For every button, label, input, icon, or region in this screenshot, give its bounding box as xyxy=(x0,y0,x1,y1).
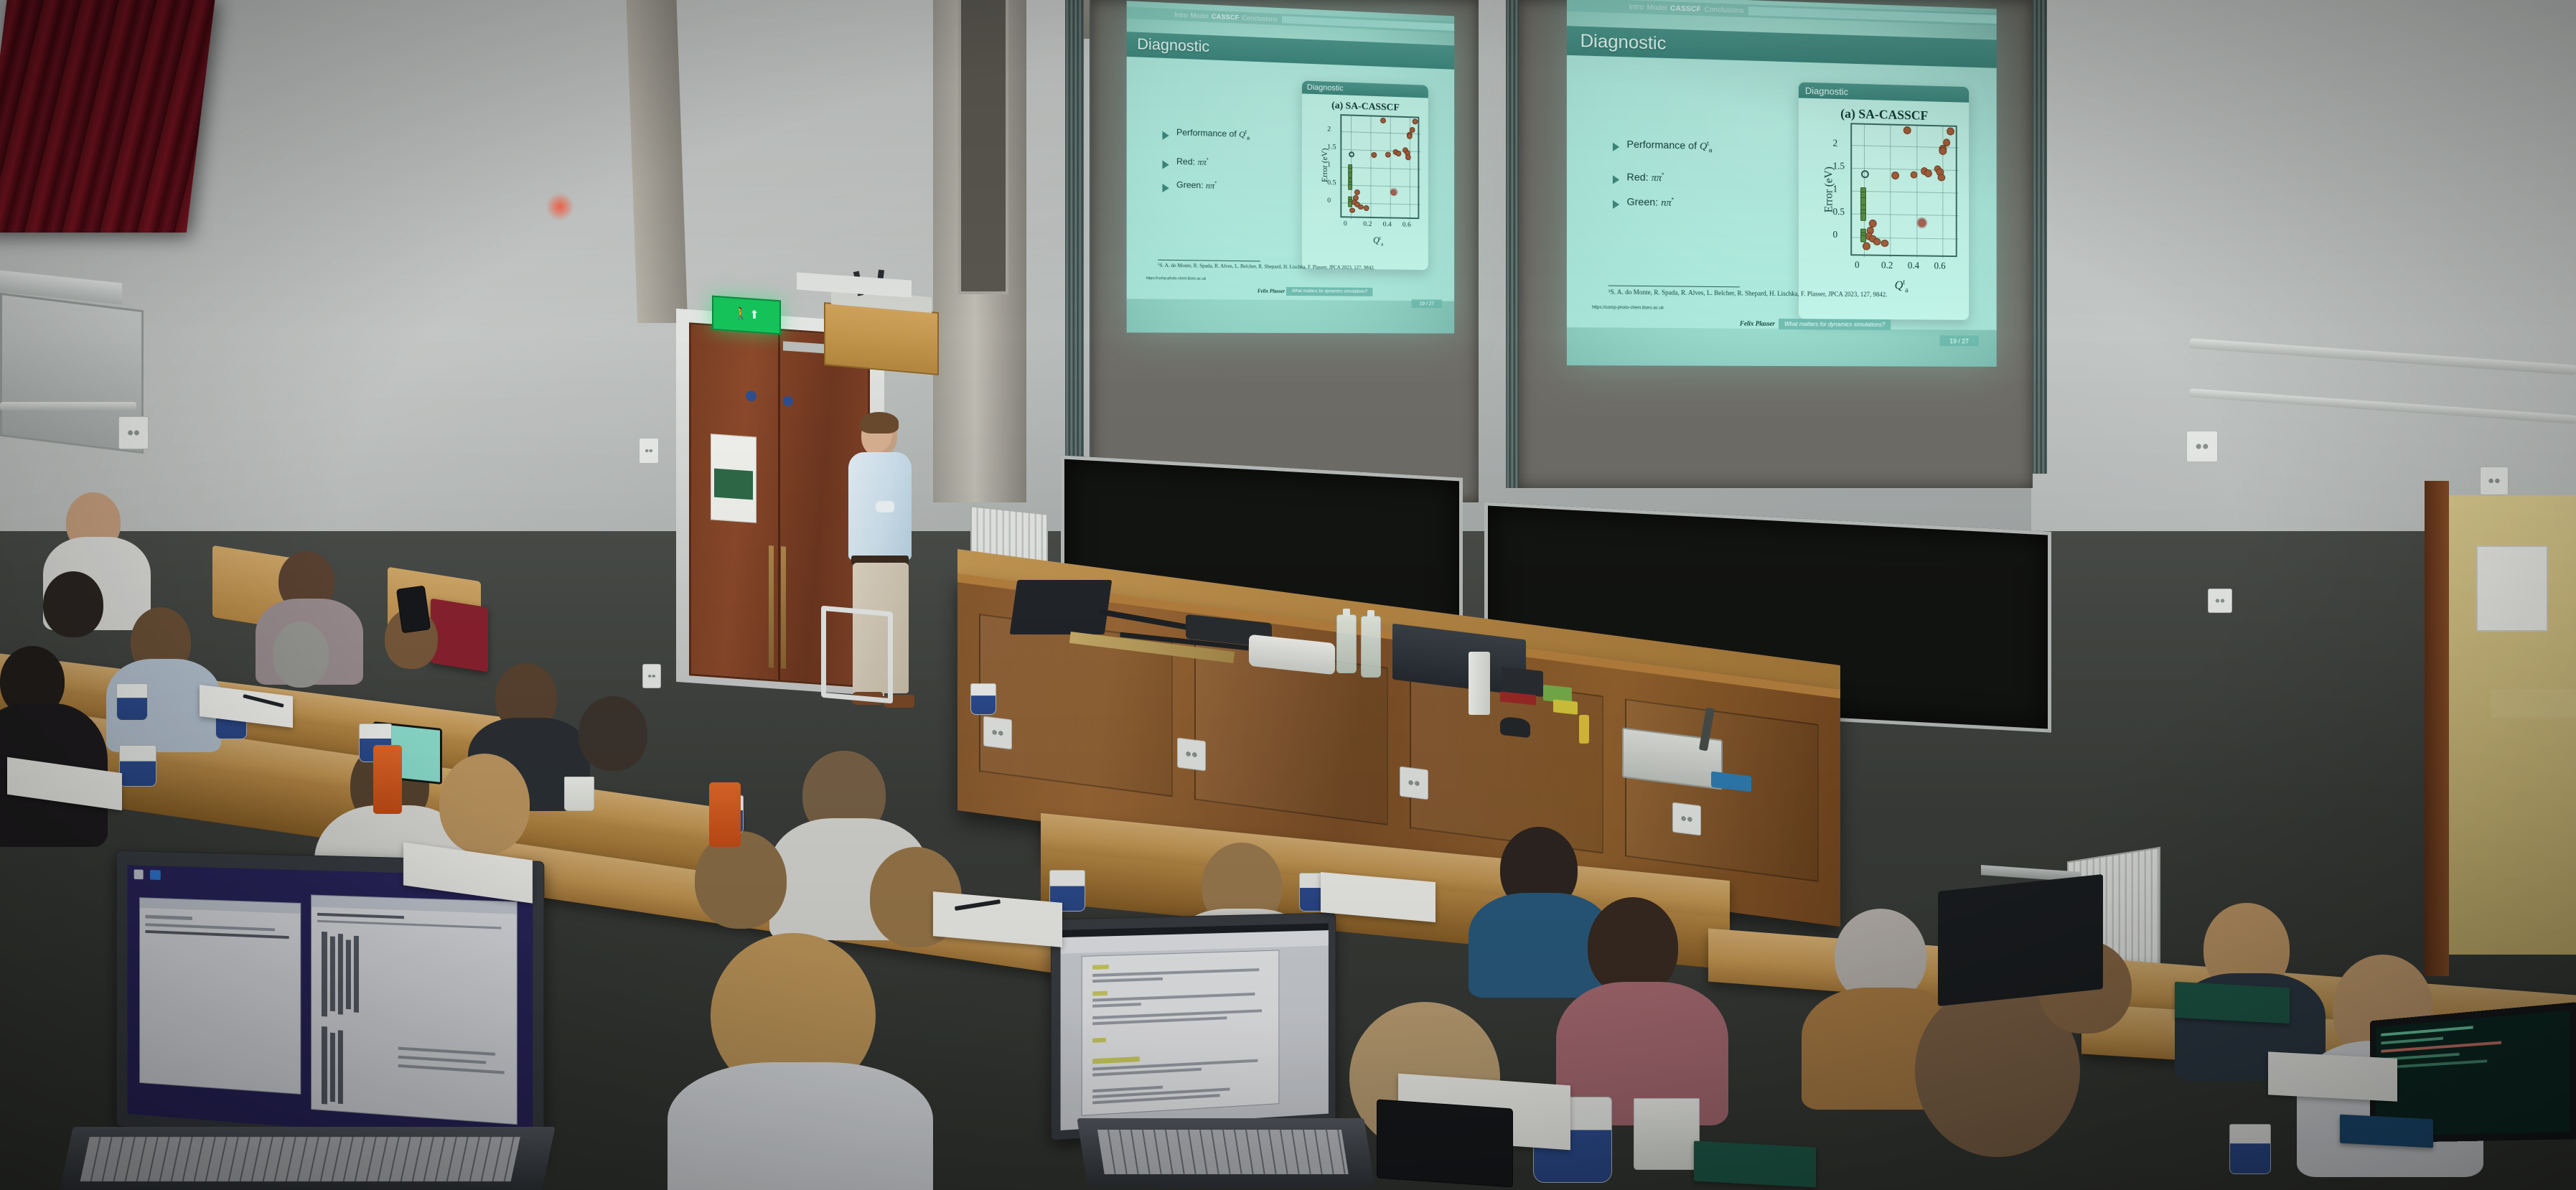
chart-xtick-label: 0.2 xyxy=(1881,260,1893,271)
slide-bullet-red: Red: ππ* xyxy=(1162,156,1300,172)
door-handle-bar[interactable] xyxy=(769,545,774,667)
chart-xtick-label: 0.4 xyxy=(1383,221,1392,229)
audience-body-15 xyxy=(668,1062,933,1190)
door-notice-poster xyxy=(711,434,757,523)
nav-section-intro[interactable]: Intro xyxy=(1629,3,1644,11)
bullet-1-sup-r: * xyxy=(1662,172,1664,179)
corridor-shelf xyxy=(2491,689,2576,718)
presenter-hair xyxy=(860,412,899,434)
chart-right: 00.20.40.621.510.50QtaError (eV) xyxy=(1799,113,1969,317)
chart-data-point xyxy=(1947,128,1954,136)
chart-data-point xyxy=(1860,197,1866,205)
presenter-stool[interactable] xyxy=(821,606,893,704)
chart-data-point xyxy=(1372,152,1377,158)
slide-nav-sections: Intro Model CASSCF Conclusions xyxy=(1127,9,1278,23)
wall-cabinet xyxy=(824,302,939,375)
paper-cup-1[interactable] xyxy=(1634,1098,1700,1170)
doorway-frame xyxy=(2425,481,2449,976)
bench-socket-4[interactable] xyxy=(1672,802,1701,836)
wall-switch-mid[interactable] xyxy=(639,438,659,464)
nav-section-model[interactable]: Model xyxy=(1191,11,1209,19)
chart-data-point xyxy=(1354,189,1360,195)
door-push-plate-left[interactable] xyxy=(746,390,757,402)
bullet-triangle-icon xyxy=(1613,143,1619,151)
phone-raised[interactable] xyxy=(396,586,431,634)
blue-folder[interactable] xyxy=(2340,1115,2433,1148)
slide-talk-title: What matters for dynamics simulations? xyxy=(1286,287,1373,296)
bullet-0-math: Q xyxy=(1239,129,1245,139)
bench-socket-3[interactable] xyxy=(1400,767,1428,800)
chart-ytick-label: 0 xyxy=(1327,197,1331,205)
chart-data-point xyxy=(1413,118,1418,124)
red-curtain xyxy=(0,0,215,233)
word-document[interactable] xyxy=(1082,950,1280,1116)
bullet-triangle-icon xyxy=(1613,200,1619,209)
audience-head-5 xyxy=(273,622,329,688)
bullet-1-text-r: Red: xyxy=(1626,171,1651,183)
chart-ytick-label: 0 xyxy=(1833,229,1838,240)
phone-on-desk[interactable] xyxy=(1377,1099,1513,1187)
chart-data-point xyxy=(1396,151,1402,156)
bench-socket-1[interactable] xyxy=(983,716,1012,750)
chart-data-point xyxy=(1380,118,1386,123)
chart-data-point xyxy=(1925,169,1932,177)
chart-data-point xyxy=(1348,172,1352,178)
orange-water-bottle-2[interactable] xyxy=(709,782,741,847)
chart-ytick-label: 2 xyxy=(1327,126,1331,133)
audience-monitor-dark xyxy=(1938,874,2103,1006)
bench-mug[interactable] xyxy=(970,683,996,715)
screen-rail-left-a xyxy=(1065,0,1084,495)
desk-mug-1[interactable] xyxy=(116,683,148,721)
paper-cup-2[interactable] xyxy=(564,777,594,811)
bullet-1-text: Red: xyxy=(1176,156,1197,167)
nav-section-conclusions[interactable]: Conclusions xyxy=(1705,6,1744,15)
board-sponge-yellow[interactable] xyxy=(1553,699,1578,715)
door-center-split xyxy=(778,331,780,680)
foreground-laptop-right[interactable] xyxy=(1054,916,1362,1190)
chart-data-point xyxy=(1348,202,1352,207)
bullet-2-text-r: Green: xyxy=(1626,196,1661,208)
audience-head-11 xyxy=(439,754,530,854)
chart-plot-area xyxy=(1850,123,1957,257)
bullet-1-math-r: ππ xyxy=(1652,173,1662,184)
chart-data-point xyxy=(1892,172,1899,179)
chart-data-point xyxy=(1939,147,1947,155)
chart-ytick-label: 2 xyxy=(1833,137,1838,149)
chart-xtick-label: 0.4 xyxy=(1908,260,1919,271)
figure-card-right: Diagnostic (a) SA-CASSCF 00.20.40.621.51… xyxy=(1799,83,1969,320)
nav-section-casscf[interactable]: CASSCF xyxy=(1212,13,1240,22)
chart-data-point xyxy=(1860,213,1866,221)
chart-data-point xyxy=(1405,154,1411,160)
bullet-2-math: nπ xyxy=(1206,180,1214,190)
green-book-1[interactable] xyxy=(1694,1141,1816,1188)
bullet-0-sub: a xyxy=(1247,134,1250,141)
laptop-lid-left xyxy=(116,851,545,1161)
audience-head-13 xyxy=(695,831,787,929)
chart-data-point xyxy=(1938,174,1945,182)
chart-data-point xyxy=(1881,239,1888,247)
chart-data-point xyxy=(1860,235,1866,243)
bullet-2-sup-r: * xyxy=(1672,196,1674,203)
chart-data-point xyxy=(1863,243,1870,250)
bullet-triangle-icon xyxy=(1162,184,1168,192)
slide-url: https://comp-photo-chem.lboro.ac.uk xyxy=(1146,276,1206,281)
nav-section-model[interactable]: Model xyxy=(1647,4,1667,12)
chart-data-point xyxy=(1869,220,1876,228)
laptop-desktop-icon-1[interactable] xyxy=(134,869,144,879)
nav-section-casscf[interactable]: CASSCF xyxy=(1670,4,1701,14)
wall-switch-mid-2[interactable] xyxy=(642,664,661,688)
figure-card-left: Diagnostic (a) SA-CASSCF 00.20.40.621.51… xyxy=(1302,80,1428,270)
slide-author: Felix Plasser xyxy=(1257,289,1285,294)
pillar-recess xyxy=(958,0,1008,294)
laptop-lid-right xyxy=(1051,912,1336,1140)
up-arrow-icon: ⬆ xyxy=(749,309,759,322)
paper-towel-roll xyxy=(1469,652,1490,715)
laptop-window-left-1[interactable] xyxy=(139,897,301,1095)
running-person-icon: 🚶 xyxy=(734,309,748,321)
green-book-2[interactable] xyxy=(2175,982,2290,1023)
wall-socket-left[interactable] xyxy=(118,416,149,449)
chart-xaxis-label: Qta xyxy=(1373,235,1383,248)
chart-left: 00.20.40.621.510.50QtaError (eV) xyxy=(1302,106,1428,266)
presenter-clicker[interactable] xyxy=(876,501,894,512)
chart-data-point xyxy=(1873,238,1881,245)
bullet-triangle-icon xyxy=(1162,160,1168,169)
wall-socket-right[interactable] xyxy=(2186,431,2218,462)
chart-faint-point xyxy=(1916,217,1927,228)
nav-section-conclusions[interactable]: Conclusions xyxy=(1242,14,1278,23)
projected-slide-right: Intro Model CASSCF Conclusions Diagnosti… xyxy=(1567,0,1997,367)
lectern-laptop[interactable] xyxy=(1010,580,1113,634)
exit-sign: 🚶 ⬆ xyxy=(712,296,781,335)
desk-mug-9[interactable] xyxy=(2229,1124,2271,1174)
chart-data-point xyxy=(1350,207,1356,213)
chart-data-point xyxy=(1364,205,1369,211)
chart-xtick-label: 0.6 xyxy=(1934,261,1946,272)
slide-url-right: https://comp-photo-chem.lboro.ac.uk xyxy=(1592,306,1664,311)
laptop-window-left-2[interactable] xyxy=(311,895,517,1125)
bullet-triangle-icon xyxy=(1613,175,1619,184)
slide-number: 19 / 27 xyxy=(1412,299,1442,308)
bench-marker[interactable] xyxy=(1579,715,1589,744)
laptop-base-left xyxy=(59,1127,556,1190)
orange-water-bottle[interactable] xyxy=(373,745,402,814)
laptop-base-right xyxy=(1077,1118,1374,1187)
chart-data-point xyxy=(1861,170,1868,178)
chart-yaxis-label: Error (eV) xyxy=(1823,151,1836,228)
bullet-2-math-r: nπ xyxy=(1661,198,1671,209)
chart-xtick-label: 0 xyxy=(1855,259,1860,271)
slide-author-right: Felix Plasser xyxy=(1740,320,1775,327)
projected-slide-left: Intro Model CASSCF Conclusions Diagnosti… xyxy=(1127,1,1454,333)
chart-xtick-label: 0.2 xyxy=(1363,220,1372,228)
red-indicator-light xyxy=(545,192,574,221)
bullet-2-text: Green: xyxy=(1176,179,1206,190)
chart-plot-area xyxy=(1340,114,1419,219)
chart-data-point xyxy=(1348,184,1352,190)
notebook-6 xyxy=(2268,1051,2397,1101)
nav-section-intro[interactable]: Intro xyxy=(1174,11,1188,19)
wall-socket-right-2[interactable] xyxy=(2480,467,2509,495)
bullet-0-sub-r: a xyxy=(1709,146,1713,154)
chart-data-point xyxy=(1349,151,1354,157)
chart-xtick-label: 0 xyxy=(1344,220,1347,228)
bullet-0-text: Performance of xyxy=(1176,127,1239,139)
seat-cushion-1[interactable] xyxy=(431,599,488,673)
audience-head-9 xyxy=(579,696,647,771)
audience-head-3 xyxy=(43,571,103,637)
foreground-laptop-left[interactable] xyxy=(106,856,566,1190)
slide-nav-progress-right xyxy=(1748,6,1997,23)
door-push-plate-right[interactable] xyxy=(783,395,793,406)
bullet-0-math-r: Q xyxy=(1700,141,1707,152)
chart-data-point xyxy=(1358,204,1364,210)
bullet-2-sup: * xyxy=(1214,179,1217,186)
slide-bullet-red-right: Red: ππ* xyxy=(1613,171,1794,187)
slide-nav-sections-right: Intro Model CASSCF Conclusions xyxy=(1567,1,1744,15)
desk-mug-4[interactable] xyxy=(119,745,156,787)
slide-nav-progress xyxy=(1282,16,1454,31)
door-handle-bar-2[interactable] xyxy=(781,546,786,668)
slide-talk-title-right: What matters for dynamics simulations? xyxy=(1779,319,1891,330)
water-bottle-2[interactable] xyxy=(1361,616,1381,678)
bullet-1-sup: * xyxy=(1207,156,1209,163)
laptop-desktop-icon-2[interactable] xyxy=(150,870,161,880)
water-bottle-1[interactable] xyxy=(1336,614,1357,673)
bench-socket-2[interactable] xyxy=(1177,738,1206,772)
bullet-0-text-r: Performance of xyxy=(1626,139,1700,151)
wall-pipe-left xyxy=(0,402,136,411)
wall-switch-right[interactable] xyxy=(2208,589,2232,613)
slide-number-right: 19 / 27 xyxy=(1940,335,1979,346)
chart-data-point xyxy=(1407,133,1413,139)
bullet-triangle-icon xyxy=(1162,131,1168,140)
chart-yaxis-label: Error (eV) xyxy=(1321,137,1329,194)
chart-data-point xyxy=(1903,126,1911,134)
chart-faint-point xyxy=(1390,188,1397,196)
lecture-hall-photo: Intro Model CASSCF Conclusions Diagnosti… xyxy=(0,0,2576,1190)
corridor-noticeboard xyxy=(2476,545,2548,632)
bullet-1-math: ππ xyxy=(1197,156,1206,167)
chart-xtick-label: 0.6 xyxy=(1402,221,1411,229)
